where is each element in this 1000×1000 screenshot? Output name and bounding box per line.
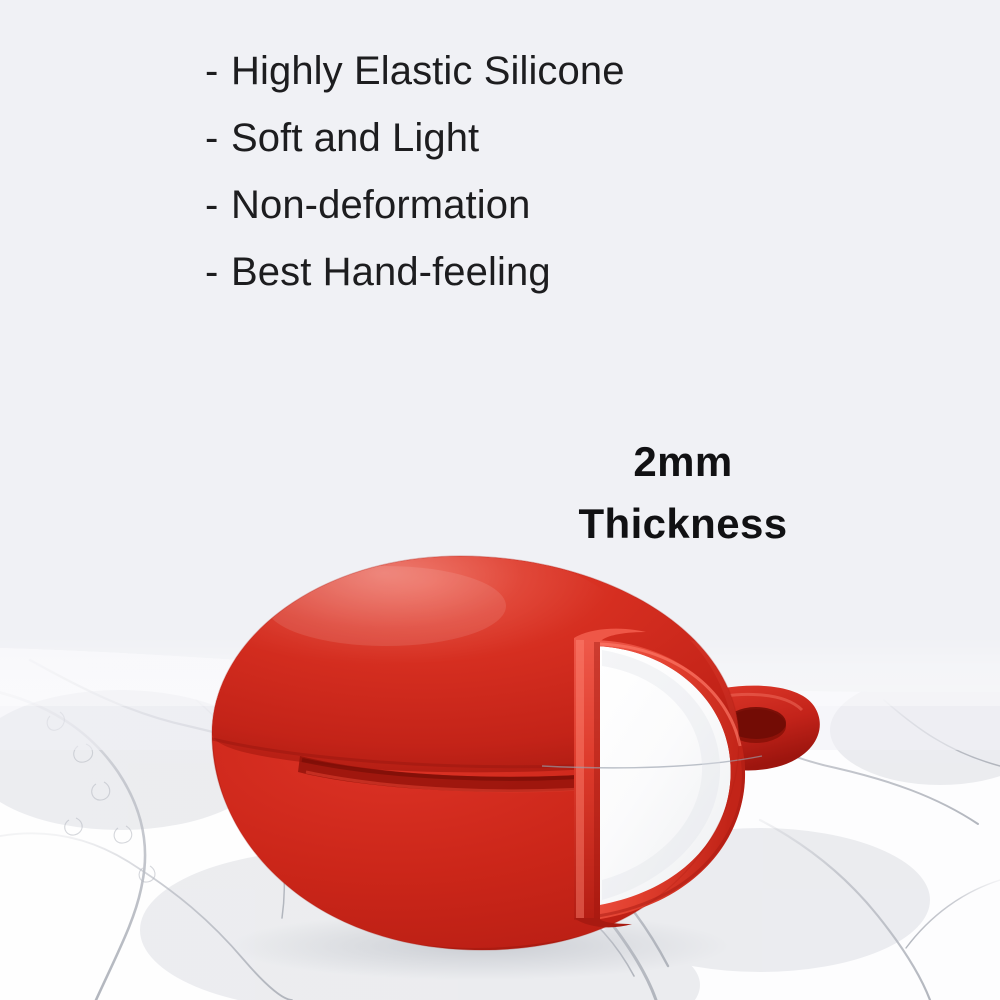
feature-label: Soft and Light — [231, 116, 479, 160]
bullet-dash: - — [205, 172, 231, 239]
silicone-case-graphic — [150, 520, 870, 990]
feature-list: -Highly Elastic Silicone -Soft and Light… — [205, 38, 905, 306]
feature-list-item: -Highly Elastic Silicone — [205, 38, 905, 105]
cutaway-section — [542, 629, 762, 928]
bullet-dash: - — [205, 239, 231, 306]
feature-label: Highly Elastic Silicone — [231, 49, 625, 93]
thickness-value: 2mm — [523, 436, 843, 488]
bullet-dash: - — [205, 38, 231, 105]
bullet-dash: - — [205, 105, 231, 172]
feature-list-item: -Non-deformation — [205, 172, 905, 239]
feature-label: Non-deformation — [231, 183, 530, 227]
feature-list-item: -Best Hand-feeling — [205, 239, 905, 306]
product-feature-image: -Highly Elastic Silicone -Soft and Light… — [0, 0, 1000, 1000]
product-illustration — [150, 520, 870, 990]
feature-label: Best Hand-feeling — [231, 250, 551, 294]
feature-list-item: -Soft and Light — [205, 105, 905, 172]
